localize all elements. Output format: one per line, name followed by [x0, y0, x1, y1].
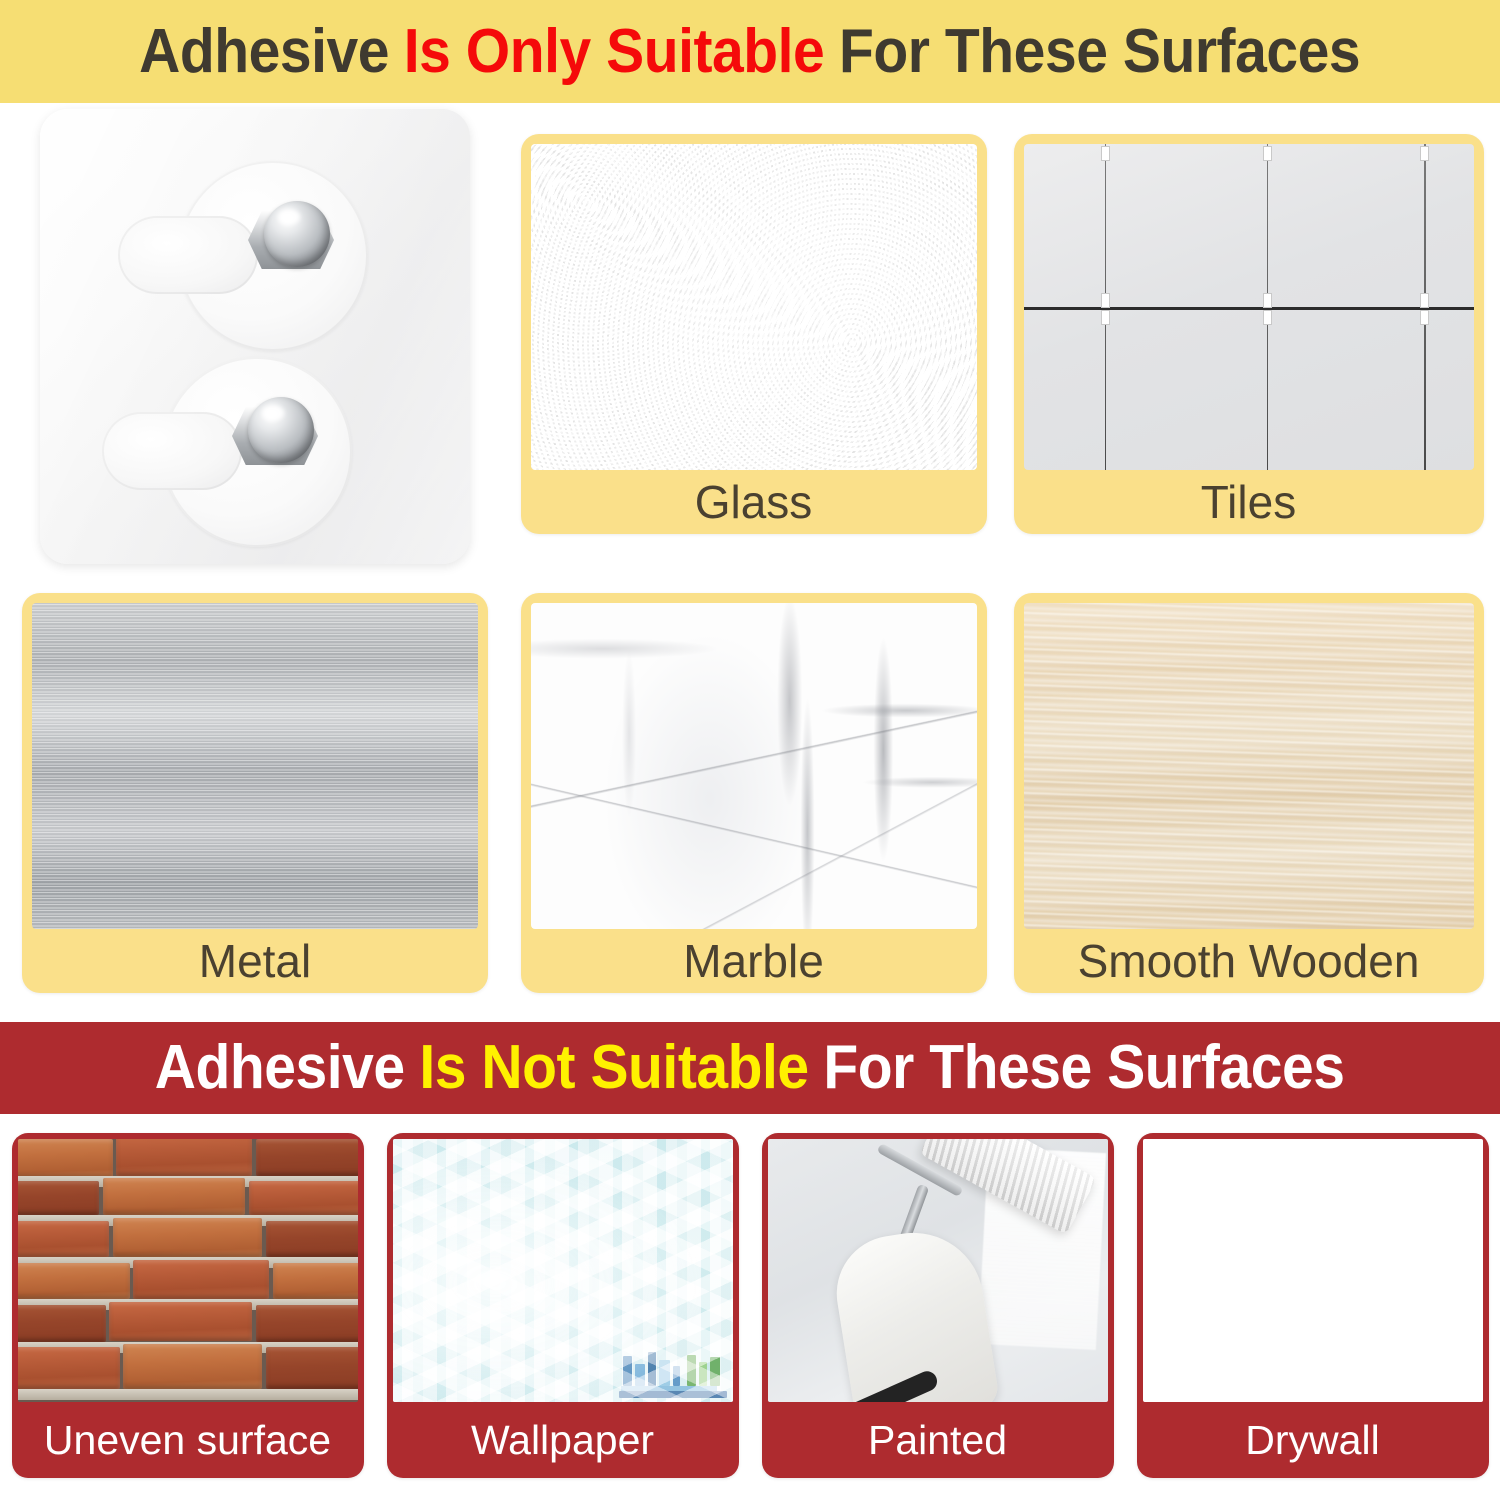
bolt-head-top: [248, 197, 334, 283]
surface-card-tiles-cell: Tiles: [997, 103, 1500, 564]
wallpaper-texture-swatch: [393, 1139, 733, 1402]
product-image-cell: [0, 103, 510, 564]
not-suitable-banner: Adhesive Is Not Suitable For These Surfa…: [0, 1022, 1500, 1114]
bad-surface-card-painted: Painted: [762, 1133, 1114, 1478]
surface-label-wooden: Smooth Wooden: [1024, 929, 1474, 993]
brick-texture-swatch: [18, 1139, 358, 1402]
surface-card-tiles: Tiles: [1014, 134, 1484, 534]
surface-label-metal: Metal: [32, 929, 478, 993]
keyhole-channel-bottom: [102, 412, 242, 490]
surface-card-glass-cell: Glass: [510, 103, 997, 564]
bolt-head-bottom: [232, 393, 318, 479]
surface-label-glass: Glass: [531, 470, 977, 534]
tiles-texture-swatch: [1024, 144, 1474, 470]
surface-card-wooden-cell: Smooth Wooden: [997, 564, 1500, 1022]
wallpaper-shelf-objects: [619, 1346, 727, 1398]
bad-surface-card-uneven: Uneven surface: [12, 1133, 364, 1478]
surface-card-wooden: Smooth Wooden: [1014, 593, 1484, 993]
glass-texture-swatch: [531, 144, 977, 470]
bad-surface-label-wallpaper: Wallpaper: [393, 1402, 733, 1478]
surface-label-marble: Marble: [531, 929, 977, 993]
bad-surface-card-drywall: Drywall: [1137, 1133, 1489, 1478]
bad-surface-card-wallpaper: Wallpaper: [387, 1133, 739, 1478]
not-suitable-surfaces-grid: Uneven surface Wallpaper: [0, 1114, 1500, 1495]
bolt-glint-top: [278, 209, 300, 225]
not-suitable-banner-text-end: For These Surfaces: [824, 1037, 1345, 1099]
marble-texture-swatch: [531, 603, 977, 929]
metal-texture-swatch: [32, 603, 478, 929]
suitable-banner-text-start: Adhesive: [139, 21, 389, 83]
bad-surface-label-painted: Painted: [768, 1402, 1108, 1478]
not-suitable-banner-text-start: Adhesive: [155, 1037, 405, 1099]
bad-surface-label-drywall: Drywall: [1143, 1402, 1483, 1478]
bad-surface-label-uneven: Uneven surface: [18, 1402, 358, 1478]
surface-card-glass: Glass: [521, 134, 987, 534]
painted-texture-swatch: [768, 1139, 1108, 1402]
surface-card-metal: Metal: [22, 593, 488, 993]
suitable-banner-highlight: Is Only Suitable: [404, 21, 825, 83]
surface-card-marble-cell: Marble: [510, 564, 997, 1022]
not-suitable-banner-highlight: Is Not Suitable: [420, 1037, 809, 1099]
wood-texture-swatch: [1024, 603, 1474, 929]
surface-card-marble: Marble: [521, 593, 987, 993]
bolt-glint-bottom: [262, 405, 284, 421]
suitable-surfaces-grid: Glass Tiles: [0, 103, 1500, 1022]
adhesive-hook-plate: [40, 109, 470, 564]
keyhole-channel-top: [118, 216, 258, 294]
suitable-banner: Adhesive Is Only Suitable For These Surf…: [0, 0, 1500, 103]
drywall-texture-swatch: [1143, 1139, 1483, 1402]
surface-card-metal-cell: Metal: [0, 564, 510, 1022]
surface-label-tiles: Tiles: [1024, 470, 1474, 534]
suitable-banner-text-end: For These Surfaces: [839, 21, 1360, 83]
